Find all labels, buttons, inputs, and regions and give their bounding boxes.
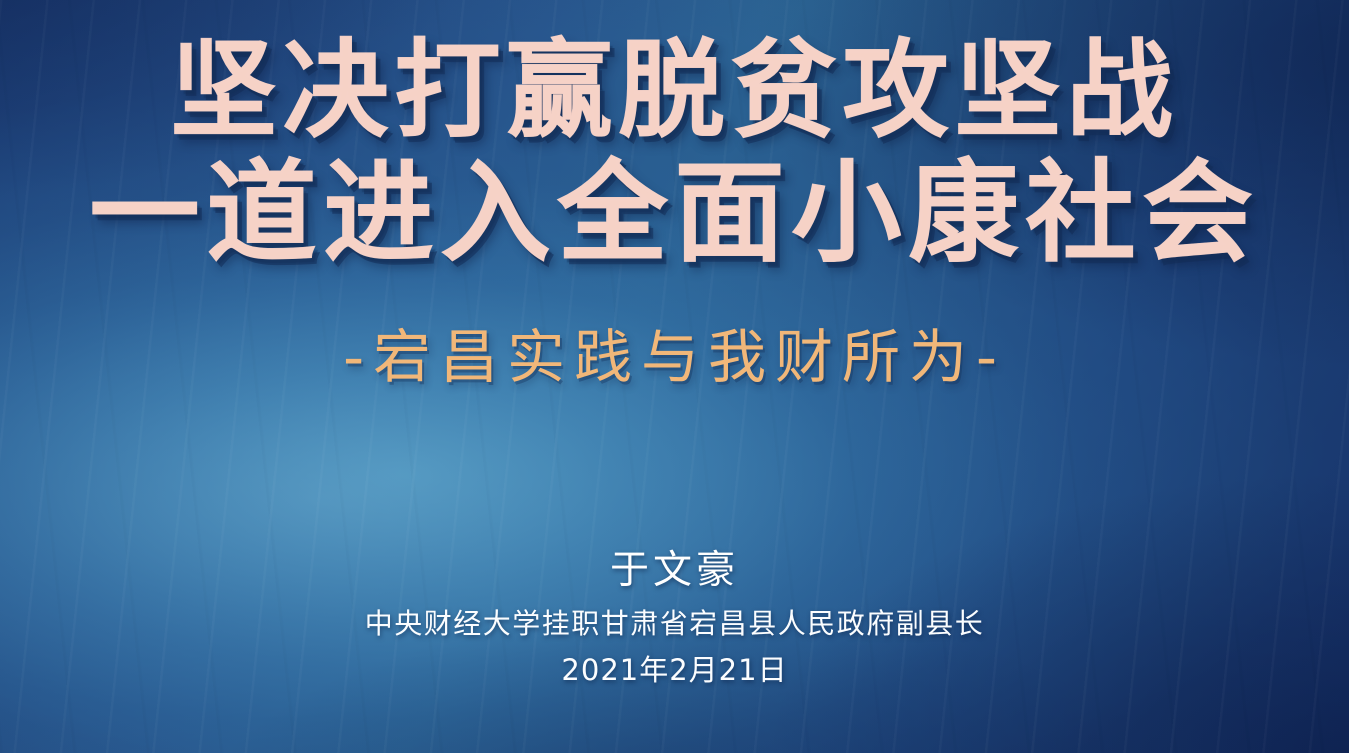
title-slide: 坚决打赢脱贫攻坚战 一道进入全面小康社会 -宕昌实践与我财所为- 于文豪 中央财… xyxy=(0,0,1349,753)
headline-line-1: 坚决打赢脱贫攻坚战 xyxy=(90,38,1260,144)
headline-block: 坚决打赢脱贫攻坚战 一道进入全面小康社会 xyxy=(90,38,1260,268)
presentation-date: 2021年2月21日 xyxy=(0,653,1349,688)
presenter-block: 于文豪 中央财经大学挂职甘肃省宕昌县人民政府副县长 2021年2月21日 xyxy=(0,548,1349,687)
subheadline: -宕昌实践与我财所为- xyxy=(343,310,1006,394)
presenter-role: 中央财经大学挂职甘肃省宕昌县人民政府副县长 xyxy=(0,607,1349,641)
headline-line-2: 一道进入全面小康社会 xyxy=(90,158,1260,268)
slide-content: 坚决打赢脱贫攻坚战 一道进入全面小康社会 -宕昌实践与我财所为- 于文豪 中央财… xyxy=(0,0,1349,753)
presenter-name: 于文豪 xyxy=(0,548,1349,594)
